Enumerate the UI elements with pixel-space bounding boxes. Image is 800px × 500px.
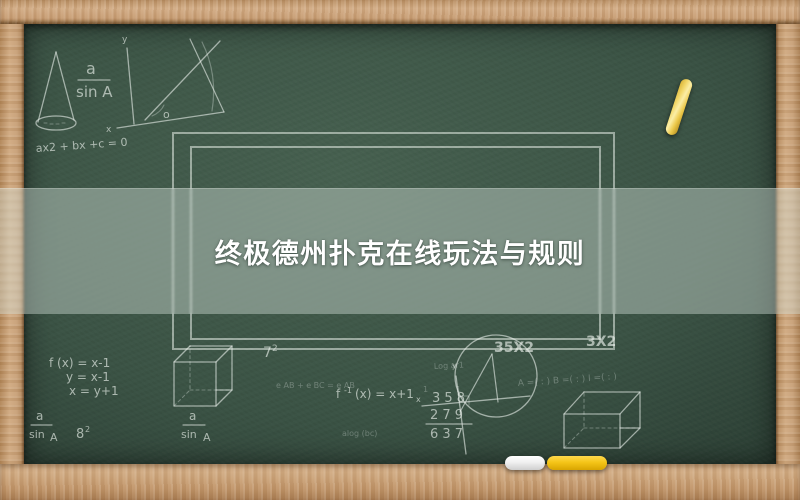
cube-drawing-right	[564, 392, 640, 448]
svg-text:A: A	[50, 431, 58, 444]
matrix-row: A =( : ) B =( : ) I =( : )	[518, 372, 618, 389]
svg-text:2 7 9: 2 7 9	[430, 408, 463, 423]
svg-text:1: 1	[423, 385, 428, 394]
svg-text:6 3 7: 6 3 7	[430, 427, 463, 442]
faint-equation: e AB + e BC = e AB	[276, 381, 355, 390]
yellow-chalk-stick-tray	[547, 456, 607, 470]
function-equations: f (x) = x-1 y = x-1 x = y+1	[49, 356, 119, 398]
arithmetic-column: 3 5 8 2 7 9 6 3 7 1 1	[423, 385, 472, 442]
screenshot-root: a sin A ax2 + bx +c = 0 y x o	[0, 0, 800, 500]
svg-text:A: A	[203, 431, 211, 444]
svg-text:f (x) = x-1: f (x) = x-1	[49, 356, 110, 370]
svg-text:(x) = x+1: (x) = x+1	[355, 387, 414, 401]
label-35x2: 35X2	[494, 340, 534, 356]
label-3x2: 3X2	[586, 334, 616, 350]
svg-text:x: x	[416, 395, 421, 404]
log-label: Log ar1	[434, 360, 465, 371]
svg-text:a: a	[36, 409, 43, 423]
svg-text:x = y+1: x = y+1	[69, 384, 119, 398]
power-seven-squared: 7	[263, 345, 272, 361]
svg-text:y = x-1: y = x-1	[66, 370, 110, 384]
cube-drawing-left	[174, 346, 232, 406]
log-expression: alog (bc)	[342, 429, 377, 438]
svg-text:2: 2	[272, 344, 278, 354]
svg-text:sin: sin	[181, 428, 197, 441]
chalk-tray	[0, 464, 800, 500]
frame-top-rail	[0, 0, 800, 24]
ratio-a-sinA-bottom-2: a sin A	[181, 409, 211, 444]
svg-text:-1: -1	[344, 386, 352, 395]
svg-text:2: 2	[85, 425, 90, 434]
page-title: 终极德州扑克在线玩法与规则	[0, 188, 800, 314]
svg-text:y: y	[452, 361, 457, 370]
white-chalk-stick	[505, 456, 545, 470]
svg-text:a: a	[189, 409, 196, 423]
svg-text:sin: sin	[29, 428, 45, 441]
ratio-a-sinA-bottom-1: a sin A	[29, 409, 58, 444]
power-eight-squared: 8	[76, 427, 84, 442]
